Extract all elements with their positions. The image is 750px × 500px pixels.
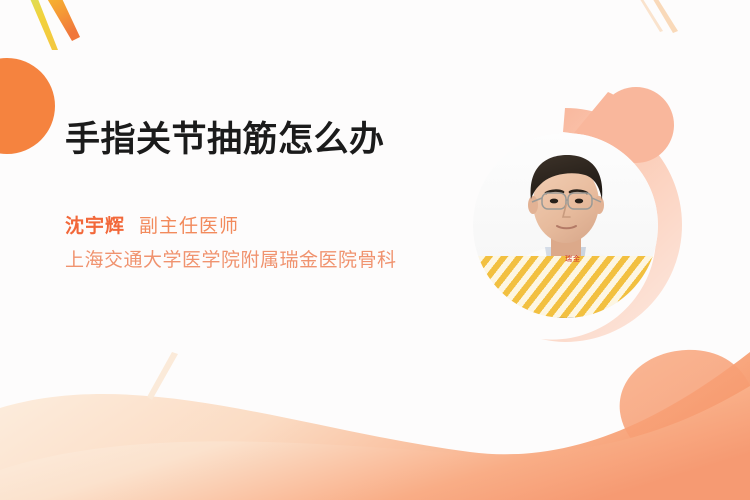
top-left-stripes — [28, 0, 80, 50]
wave-blob — [620, 350, 750, 470]
banner-text-block: 手指关节抽筋怎么办 沈宇辉副主任医师 上海交通大学医学院附属瑞金医院骨科 — [65, 118, 425, 273]
peach-line-a — [638, 0, 663, 32]
wave-band-front — [0, 386, 750, 500]
doctor-name: 沈宇辉 — [65, 216, 125, 237]
gold-stripe-wedge — [473, 256, 658, 318]
thin-yellow-line — [28, 0, 58, 50]
doctor-title: 副主任医师 — [139, 216, 239, 237]
left-orange-circle — [0, 58, 55, 154]
wave-band-back — [0, 352, 750, 500]
doctor-affiliation: 上海交通大学医学院附属瑞金医院骨科 — [65, 248, 410, 274]
bottom-wave-group — [0, 350, 750, 500]
doctor-portrait: 瑞金 — [473, 133, 658, 318]
doctor-identity-line: 沈宇辉副主任医师 — [65, 211, 425, 238]
peach-line-b — [651, 0, 678, 33]
orange-diagonal-bar — [42, 0, 80, 41]
top-right-stripes — [638, 0, 678, 33]
faint-peach-stripe — [147, 352, 178, 400]
portrait-stripe-mask — [473, 133, 658, 318]
coat-badge: 瑞金 — [565, 254, 581, 264]
doctor-article-banner: 瑞金 手指关节抽筋怎么办 沈宇辉副主任医师 上海交通大学医学院附属瑞金医院骨科 — [0, 0, 750, 500]
page-title: 手指关节抽筋怎么办 — [65, 118, 425, 163]
